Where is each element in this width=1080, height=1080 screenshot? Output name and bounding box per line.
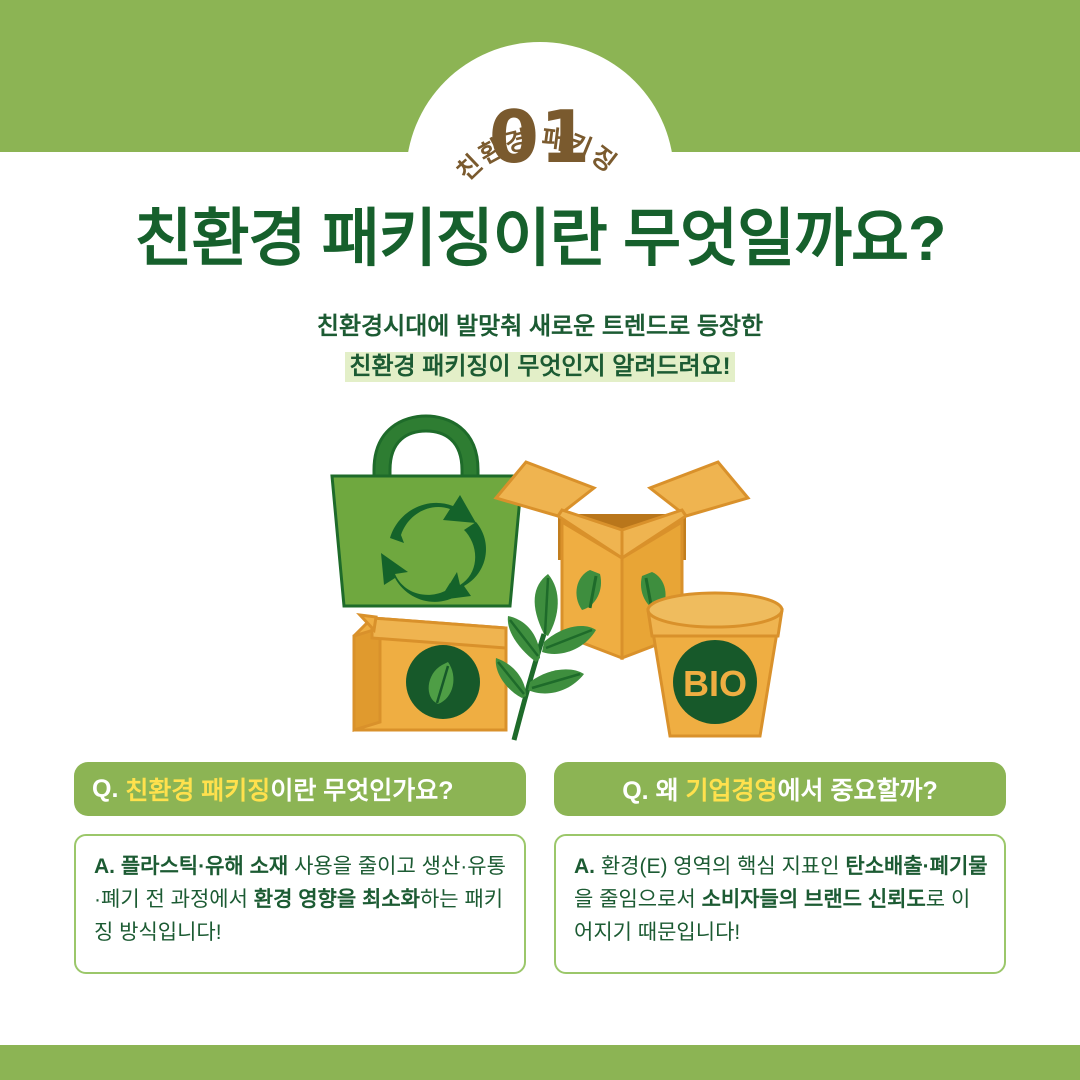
q-accent: 친환경 패키징 bbox=[125, 771, 270, 807]
a-seg: 탄소배출·폐기물 bbox=[845, 855, 987, 878]
answer-box-left: A. 플라스틱·유해 소재 사용을 줄이고 생산·유통·폐기 전 과정에서 환경… bbox=[74, 834, 526, 974]
q-prefix: Q. bbox=[92, 775, 118, 804]
qa-column-left: Q. 친환경 패키징이란 무엇인가요? A. 플라스틱·유해 소재 사용을 줄이… bbox=[74, 762, 526, 974]
q-rest: 이란 무엇인가요? bbox=[270, 771, 453, 807]
page-title: 친환경 패키징이란 무엇일까요? bbox=[0, 188, 1080, 279]
question-bar-left[interactable]: Q. 친환경 패키징이란 무엇인가요? bbox=[74, 762, 526, 816]
a-seg: 환경(E) 영역의 핵심 지표인 bbox=[601, 855, 846, 878]
a-seg: 소비자들의 브랜드 신뢰도 bbox=[702, 888, 926, 911]
a-seg: 을 줄임으로서 bbox=[574, 888, 702, 911]
qa-section: Q. 친환경 패키징이란 무엇인가요? A. 플라스틱·유해 소재 사용을 줄이… bbox=[0, 762, 1080, 992]
bio-label: BIO bbox=[683, 663, 747, 704]
a-seg: 환경 영향을 최소화 bbox=[254, 888, 420, 911]
subtitle-line-2: 친환경 패키징이 무엇인지 알려드려요! bbox=[345, 350, 734, 384]
question-bar-right[interactable]: Q. 왜 기업경영에서 중요할까? bbox=[554, 762, 1006, 816]
q-accent: 기업경영 bbox=[686, 771, 778, 807]
subtitle-line-1: 친환경시대에 발맞춰 새로운 트렌드로 등장한 bbox=[0, 310, 1080, 344]
q-rest: 에서 중요할까? bbox=[778, 771, 938, 807]
q-prefix: Q. 왜 bbox=[622, 771, 678, 807]
bio-tub-icon: BIO bbox=[648, 593, 782, 736]
bottom-green-band bbox=[0, 1045, 1080, 1080]
answer-text-right: A. 환경(E) 영역의 핵심 지표인 탄소배출·폐기물을 줄임으로서 소비자들… bbox=[574, 850, 988, 949]
step-number: 01 bbox=[406, 95, 674, 179]
eco-packaging-illustration: BIO bbox=[300, 410, 820, 755]
tote-bag-icon bbox=[332, 416, 522, 606]
a-label: A. bbox=[574, 855, 595, 878]
qa-column-right: Q. 왜 기업경영에서 중요할까? A. 환경(E) 영역의 핵심 지표인 탄소… bbox=[554, 762, 1006, 974]
a-seg: 플라스틱·유해 소재 bbox=[121, 855, 288, 878]
answer-text-left: A. 플라스틱·유해 소재 사용을 줄이고 생산·유통·폐기 전 과정에서 환경… bbox=[94, 850, 508, 949]
subtitle-block: 친환경시대에 발맞춰 새로운 트렌드로 등장한 친환경 패키징이 무엇인지 알려… bbox=[0, 310, 1080, 384]
answer-box-right: A. 환경(E) 영역의 핵심 지표인 탄소배출·폐기물을 줄임으로서 소비자들… bbox=[554, 834, 1006, 974]
subtitle-highlight: 친환경 패키징이 무엇인지 알려드려요! bbox=[345, 352, 734, 382]
paper-bag-icon bbox=[354, 615, 506, 730]
a-label: A. bbox=[94, 855, 115, 878]
